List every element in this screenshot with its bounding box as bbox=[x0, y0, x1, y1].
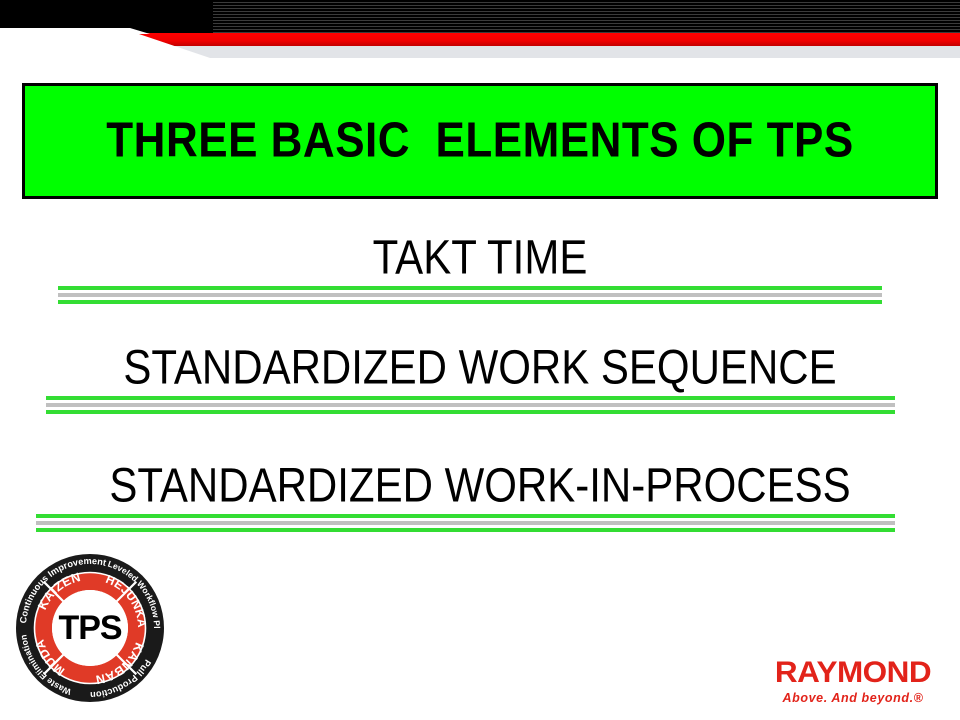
element-label-work-in-process: STANDARDIZED WORK-IN-PROCESS bbox=[0, 460, 960, 511]
element-divider-work-sequence bbox=[0, 396, 960, 416]
element-label-takt-time: TAKT TIME bbox=[0, 232, 960, 283]
page-title: THREE BASIC ELEMENTS OF TPS bbox=[106, 116, 853, 165]
element-block-work-in-process: STANDARDIZED WORK-IN-PROCESS bbox=[0, 460, 960, 534]
header-banner bbox=[0, 0, 960, 60]
divider-green-line-bottom bbox=[36, 528, 895, 532]
divider-gray-line-middle bbox=[36, 521, 895, 525]
slide-title-box: THREE BASIC ELEMENTS OF TPS bbox=[22, 83, 938, 199]
raymond-wordmark: RAYMOND bbox=[755, 658, 950, 688]
element-divider-work-in-process bbox=[0, 514, 960, 534]
header-stripe-pattern bbox=[213, 0, 960, 33]
element-block-takt-time: TAKT TIME bbox=[0, 232, 960, 306]
divider-green-line-bottom bbox=[58, 300, 882, 304]
divider-green-line-top bbox=[58, 286, 882, 290]
divider-green-line-top bbox=[46, 396, 895, 400]
divider-gray-line-middle bbox=[46, 403, 895, 407]
raymond-tagline: Above. And beyond.® bbox=[760, 691, 946, 705]
tps-center-wordmark: TPS bbox=[58, 609, 121, 647]
element-divider-takt-time bbox=[0, 286, 960, 306]
raymond-logo: RAYMOND Above. And beyond.® bbox=[760, 658, 946, 708]
divider-green-line-top bbox=[36, 514, 895, 518]
divider-green-line-bottom bbox=[46, 410, 895, 414]
tps-logo: Continuous Improvement Leveled Workflow … bbox=[14, 552, 166, 704]
element-label-work-sequence: STANDARDIZED WORK SEQUENCE bbox=[0, 342, 960, 393]
divider-gray-line-middle bbox=[58, 293, 882, 297]
element-block-work-sequence: STANDARDIZED WORK SEQUENCE bbox=[0, 342, 960, 416]
